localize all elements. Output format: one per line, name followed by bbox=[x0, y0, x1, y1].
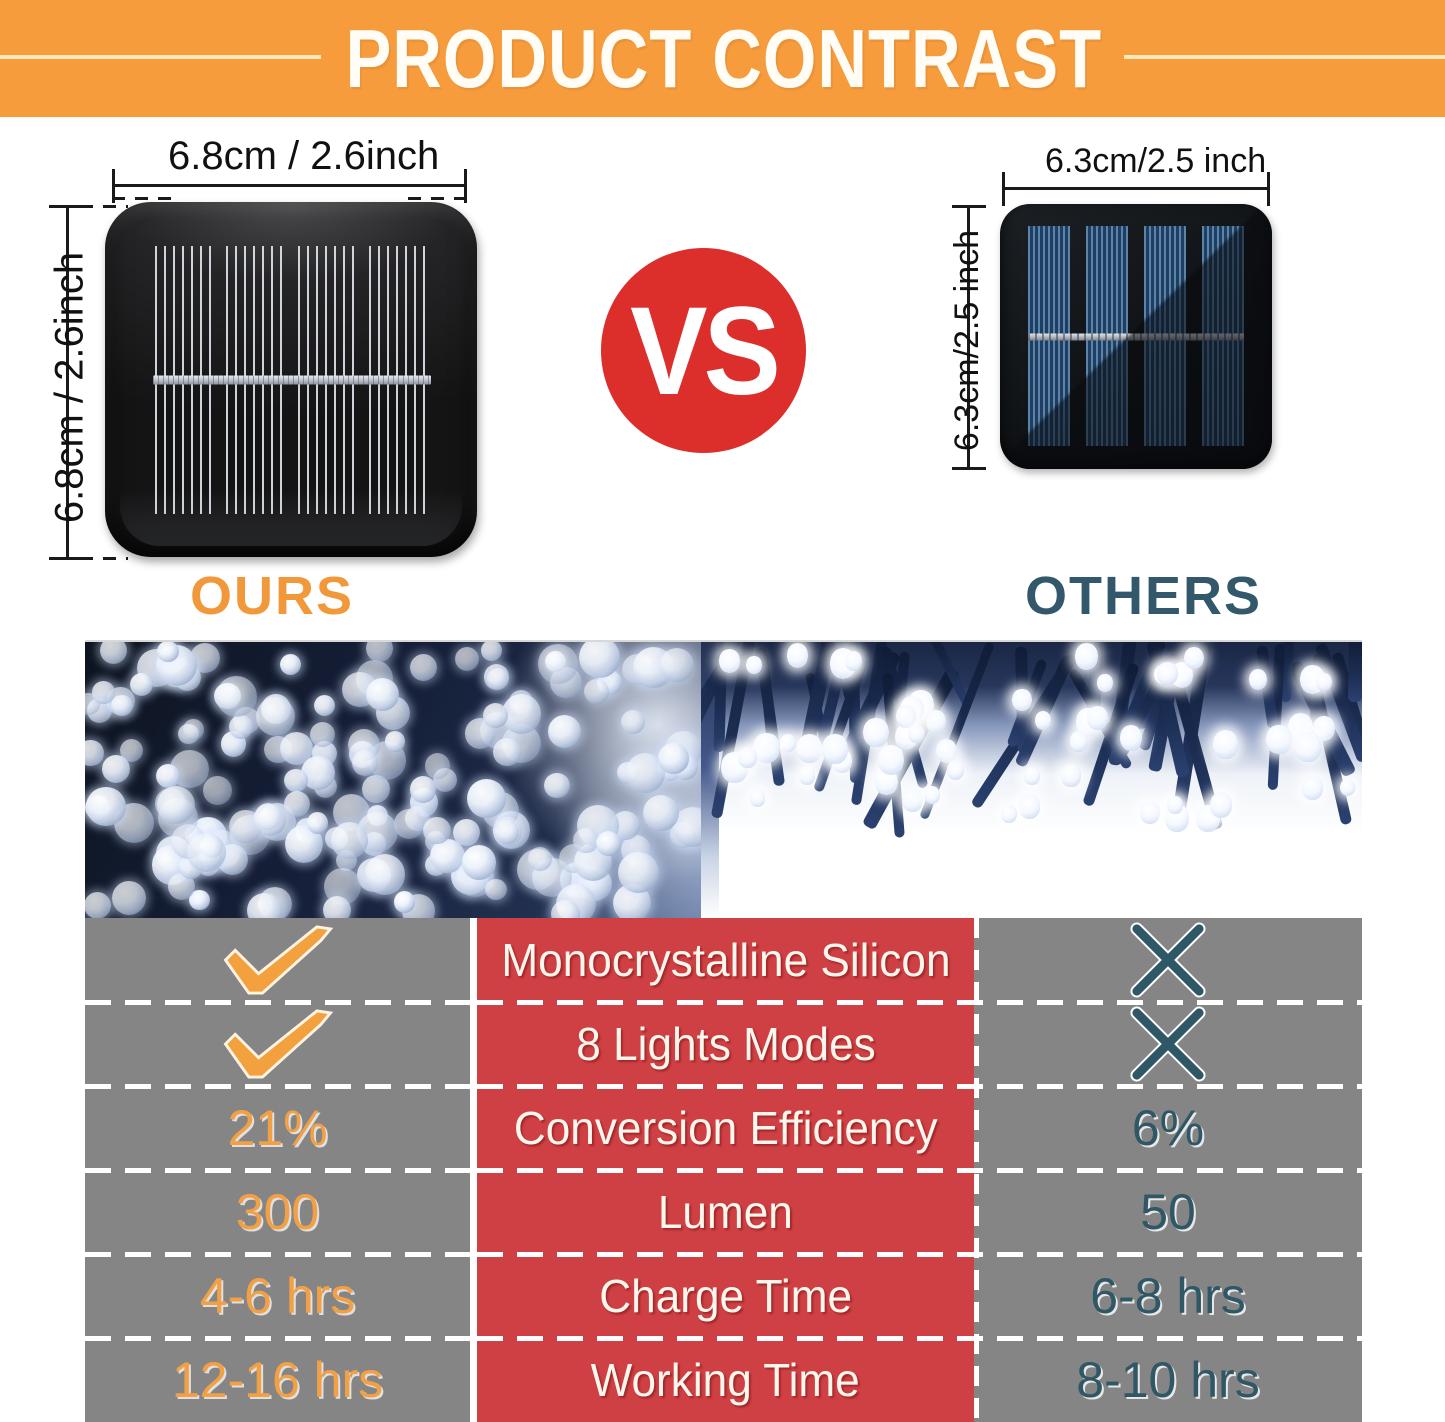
led-bulb bbox=[902, 788, 923, 812]
led-bulb bbox=[483, 703, 508, 728]
led-bulb bbox=[947, 760, 965, 780]
led-bulb bbox=[331, 822, 369, 860]
led-bulb bbox=[573, 828, 598, 853]
led-bulb bbox=[643, 795, 679, 831]
feature-label-cell: Monocrystalline Silicon bbox=[477, 918, 974, 1002]
panel-comparison-area: 6.8cm / 2.6inch 6.8cm / 2.6inch OURS VS … bbox=[0, 117, 1445, 632]
column-gap bbox=[470, 1170, 477, 1254]
ours-height-extension-top bbox=[80, 205, 128, 208]
led-bulb bbox=[863, 718, 889, 747]
led-bulb bbox=[1213, 730, 1238, 759]
column-gap bbox=[470, 1254, 477, 1338]
others-width-dimension-label: 6.3cm/2.5 inch bbox=[1045, 142, 1266, 181]
led-bulb bbox=[423, 817, 451, 845]
led-bulb bbox=[216, 676, 257, 717]
led-bulb bbox=[719, 649, 740, 673]
feature-label-cell: Charge Time bbox=[477, 1254, 974, 1338]
ours-height-tick-top bbox=[49, 205, 83, 208]
header-rule-right-decoration bbox=[1124, 55, 1445, 59]
led-wire bbox=[1348, 642, 1362, 702]
led-bulb bbox=[658, 743, 688, 773]
led-bulb bbox=[157, 642, 179, 662]
led-bulb bbox=[780, 734, 796, 752]
led-bulb bbox=[528, 847, 552, 871]
led-bulb bbox=[1295, 732, 1321, 762]
led-bulb bbox=[130, 673, 153, 696]
others-width-tick-right bbox=[1267, 172, 1270, 206]
header-banner: PRODUCT CONTRAST bbox=[0, 0, 1445, 117]
table-row: 21%Conversion Efficiency6% bbox=[85, 1086, 1362, 1170]
led-bulb bbox=[1249, 669, 1267, 690]
column-gap bbox=[470, 1086, 477, 1170]
led-bulb bbox=[753, 733, 779, 763]
table-row: 300Lumen50 bbox=[85, 1170, 1362, 1254]
others-value-text: 50 bbox=[1140, 1183, 1196, 1241]
header-rule-left-decoration bbox=[0, 55, 321, 59]
ours-value-text: 12-16 hrs bbox=[172, 1351, 383, 1409]
led-bulb bbox=[280, 654, 301, 675]
check-icon bbox=[219, 925, 337, 995]
led-bulb bbox=[256, 697, 295, 736]
led-bulb bbox=[394, 891, 415, 912]
vs-label: VS bbox=[630, 288, 777, 413]
ours-led-photo bbox=[85, 642, 701, 918]
feature-label-text: 8 Lights Modes bbox=[576, 1017, 875, 1071]
feature-label-cell: Working Time bbox=[477, 1338, 974, 1422]
poly-glare-overlay bbox=[1000, 204, 1272, 469]
led-bulb bbox=[548, 715, 581, 748]
ours-value-cell bbox=[85, 918, 470, 1002]
table-vertical-divider bbox=[974, 918, 979, 1422]
led-bulb bbox=[455, 647, 479, 671]
product-photo-strip bbox=[85, 640, 1362, 918]
led-bulb bbox=[1266, 725, 1291, 754]
ours-value-text: 300 bbox=[236, 1183, 319, 1241]
ours-value-text: 4-6 hrs bbox=[200, 1267, 356, 1325]
others-value-cell bbox=[974, 1002, 1362, 1086]
others-solar-panel-image bbox=[1000, 204, 1272, 469]
column-gap bbox=[470, 918, 477, 1002]
led-bulb bbox=[481, 642, 502, 661]
others-value-text: 6% bbox=[1132, 1099, 1204, 1157]
led-bulb bbox=[203, 776, 232, 805]
feature-label-text: Monocrystalline Silicon bbox=[501, 933, 950, 987]
comparison-table: Monocrystalline Silicon8 Lights Modes21%… bbox=[85, 918, 1362, 1422]
led-bulb bbox=[746, 656, 762, 674]
led-bulb bbox=[1061, 764, 1081, 787]
ours-width-dimension-line bbox=[112, 184, 467, 187]
led-bulb bbox=[1184, 647, 1204, 670]
feature-label-cell: Lumen bbox=[477, 1170, 974, 1254]
led-bulb bbox=[112, 881, 146, 915]
table-row: 12-16 hrsWorking Time8-10 hrs bbox=[85, 1338, 1362, 1422]
led-bulb bbox=[156, 764, 180, 788]
led-bulb bbox=[1024, 767, 1040, 786]
led-bulb bbox=[385, 731, 405, 751]
led-bulb bbox=[425, 753, 450, 778]
led-bulb bbox=[787, 643, 809, 668]
others-value-cell: 8-10 hrs bbox=[974, 1338, 1362, 1422]
led-bulb bbox=[797, 734, 823, 763]
ours-width-extension-right bbox=[408, 197, 468, 200]
ours-value-cell: 4-6 hrs bbox=[85, 1254, 470, 1338]
led-bulb bbox=[878, 745, 904, 775]
led-bulb bbox=[1120, 725, 1142, 751]
vs-badge: VS bbox=[601, 248, 806, 453]
column-gap bbox=[470, 1002, 477, 1086]
led-bulb bbox=[924, 786, 940, 805]
led-bulb bbox=[365, 854, 405, 894]
led-bulb bbox=[229, 715, 253, 739]
led-bulb bbox=[485, 879, 506, 900]
led-bulb bbox=[253, 804, 286, 837]
led-bulb bbox=[323, 896, 351, 918]
table-row: Monocrystalline Silicon bbox=[85, 918, 1362, 1002]
led-bulb bbox=[410, 654, 437, 681]
led-bulb bbox=[493, 738, 521, 766]
ours-width-dimension-label: 6.8cm / 2.6inch bbox=[168, 134, 439, 179]
led-bulb bbox=[1075, 643, 1098, 670]
others-led-photo bbox=[701, 642, 1362, 918]
led-bulb bbox=[467, 779, 506, 818]
led-bulb bbox=[247, 893, 282, 918]
led-bulb bbox=[183, 719, 203, 739]
others-width-tick-left bbox=[1002, 172, 1005, 206]
led-bulb bbox=[1340, 779, 1355, 796]
ours-value-cell: 12-16 hrs bbox=[85, 1338, 470, 1422]
led-bulb bbox=[102, 755, 130, 783]
feature-label-text: Working Time bbox=[591, 1353, 860, 1407]
led-bulb bbox=[366, 642, 393, 662]
led-bulb bbox=[799, 766, 815, 784]
led-bulb bbox=[111, 695, 133, 717]
column-gap bbox=[470, 1338, 477, 1422]
led-bulb bbox=[1097, 674, 1112, 691]
led-bulb bbox=[307, 812, 328, 833]
led-bulb bbox=[845, 651, 862, 671]
ours-value-cell: 300 bbox=[85, 1170, 470, 1254]
others-value-cell: 50 bbox=[974, 1170, 1362, 1254]
led-bulb bbox=[596, 831, 622, 857]
led-bulb bbox=[394, 809, 424, 839]
led-bulb bbox=[538, 644, 578, 684]
table-row: 4-6 hrsCharge Time6-8 hrs bbox=[85, 1254, 1362, 1338]
led-bulb bbox=[908, 724, 925, 744]
led-bulb bbox=[618, 852, 659, 893]
page-title: PRODUCT CONTRAST bbox=[336, 11, 1111, 106]
led-bulb bbox=[1140, 801, 1160, 825]
led-bulb bbox=[738, 747, 757, 768]
feature-label-text: Conversion Efficiency bbox=[514, 1101, 938, 1155]
close-icon bbox=[1129, 1005, 1207, 1083]
led-bulb bbox=[1019, 794, 1040, 819]
led-bulb bbox=[86, 787, 126, 827]
feature-label-text: Lumen bbox=[658, 1185, 793, 1239]
led-bulb bbox=[366, 678, 399, 711]
led-bulb bbox=[284, 791, 310, 817]
led-bulb bbox=[462, 845, 496, 879]
mono-busbar bbox=[153, 375, 431, 384]
led-bulb bbox=[1012, 689, 1031, 711]
led-bulb bbox=[85, 892, 111, 918]
led-bulb bbox=[314, 695, 335, 716]
others-height-dimension-label: 6.3cm/2.5 inch bbox=[948, 198, 987, 483]
led-bulb bbox=[410, 776, 436, 802]
ours-brand-label: OURS bbox=[190, 565, 354, 627]
led-bulb bbox=[495, 820, 519, 844]
led-bulb bbox=[1167, 796, 1182, 814]
ours-height-dimension-label: 6.8cm / 2.6inch bbox=[48, 218, 93, 558]
led-bulb bbox=[584, 679, 609, 704]
feature-label-cell: 8 Lights Modes bbox=[477, 1002, 974, 1086]
others-value-cell: 6-8 hrs bbox=[974, 1254, 1362, 1338]
others-value-text: 6-8 hrs bbox=[1090, 1267, 1246, 1325]
feature-label-cell: Conversion Efficiency bbox=[477, 1086, 974, 1170]
led-bulb bbox=[660, 648, 694, 682]
led-bulb bbox=[1087, 706, 1108, 730]
led-bulb bbox=[1001, 805, 1017, 824]
ours-value-text: 21% bbox=[227, 1099, 327, 1157]
table-row: 8 Lights Modes bbox=[85, 1002, 1362, 1086]
led-bulb bbox=[579, 642, 620, 678]
close-icon bbox=[1129, 921, 1207, 999]
ours-value-cell bbox=[85, 1002, 470, 1086]
led-bulb bbox=[284, 769, 308, 793]
ours-width-extension-left bbox=[112, 197, 172, 200]
led-bulb bbox=[487, 668, 509, 690]
led-bulb bbox=[544, 773, 569, 798]
led-bulb bbox=[551, 900, 580, 918]
ours-solar-panel-image bbox=[105, 202, 477, 557]
led-bulb bbox=[822, 734, 848, 764]
others-value-cell bbox=[974, 918, 1362, 1002]
check-icon bbox=[219, 1009, 337, 1079]
led-bulb bbox=[1210, 792, 1233, 818]
feature-label-text: Charge Time bbox=[599, 1269, 852, 1323]
led-bulb bbox=[750, 789, 765, 806]
led-bulb bbox=[621, 710, 645, 734]
led-bulb bbox=[85, 740, 104, 767]
led-bulb bbox=[1035, 711, 1051, 730]
led-bulb bbox=[1302, 776, 1323, 800]
led-bulb bbox=[926, 710, 946, 733]
ours-value-cell: 21% bbox=[85, 1086, 470, 1170]
others-width-dimension-line bbox=[1002, 187, 1270, 190]
led-bulb bbox=[1070, 731, 1087, 751]
led-bulb bbox=[1316, 673, 1332, 692]
others-brand-label: OTHERS bbox=[1025, 565, 1262, 627]
others-value-text: 8-10 hrs bbox=[1076, 1351, 1259, 1409]
led-bulb bbox=[1157, 662, 1177, 686]
led-bulb bbox=[100, 642, 127, 664]
others-value-cell: 6% bbox=[974, 1086, 1362, 1170]
